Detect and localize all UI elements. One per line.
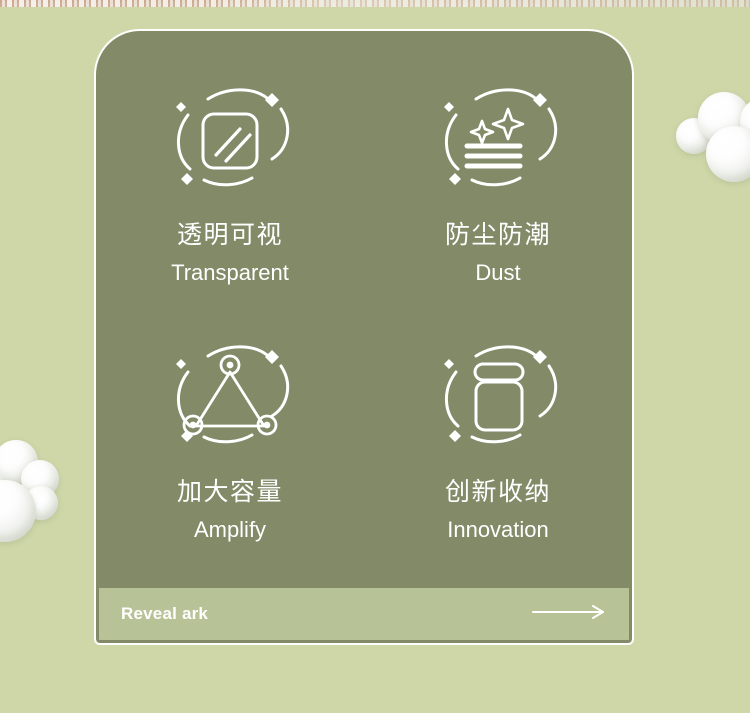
feature-title-cn: 创新收纳 bbox=[445, 480, 551, 505]
cloud-sphere bbox=[21, 460, 59, 498]
cloud-sphere bbox=[0, 452, 20, 506]
feature-item-innovation[interactable]: 创新收纳 Innovation bbox=[364, 332, 632, 589]
feature-grid: 透明可视 Transparent bbox=[96, 31, 632, 588]
cloud-sphere bbox=[0, 480, 36, 542]
feature-item-dust[interactable]: 防尘防潮 Dust bbox=[364, 75, 632, 332]
feature-card: 透明可视 Transparent bbox=[94, 29, 634, 645]
card-footer-bar[interactable]: Reveal ark bbox=[99, 588, 629, 640]
orbit-transparent-panel-icon bbox=[154, 75, 306, 197]
orbit-storage-jar-icon bbox=[422, 332, 574, 454]
cloud-sphere bbox=[24, 486, 58, 520]
arrow-right-icon[interactable] bbox=[531, 604, 607, 625]
cloud-sphere bbox=[706, 126, 750, 182]
cloud-sphere bbox=[698, 92, 750, 144]
strip-fade-overlay bbox=[0, 0, 750, 7]
footer-label: Reveal ark bbox=[121, 604, 208, 624]
feature-item-amplify[interactable]: 加大容量 Amplify bbox=[96, 332, 364, 589]
cut-off-image-strip bbox=[0, 0, 750, 7]
feature-title-en: Innovation bbox=[447, 519, 549, 541]
cloud-sphere bbox=[740, 98, 750, 144]
feature-title-cn: 防尘防潮 bbox=[445, 223, 551, 248]
feature-title-en: Dust bbox=[475, 262, 520, 284]
feature-title-cn: 加大容量 bbox=[177, 480, 283, 505]
feature-item-transparent[interactable]: 透明可视 Transparent bbox=[96, 75, 364, 332]
cloud-cluster-left-icon bbox=[0, 438, 106, 553]
cloud-sphere bbox=[676, 118, 712, 154]
feature-title-en: Transparent bbox=[171, 262, 289, 284]
orbit-sparkle-stack-icon bbox=[422, 75, 574, 197]
cloud-cluster-right-icon bbox=[676, 92, 750, 190]
feature-title-en: Amplify bbox=[194, 519, 266, 541]
orbit-triangle-nodes-icon bbox=[154, 332, 306, 454]
cloud-sphere bbox=[0, 440, 38, 484]
feature-title-cn: 透明可视 bbox=[177, 223, 283, 248]
